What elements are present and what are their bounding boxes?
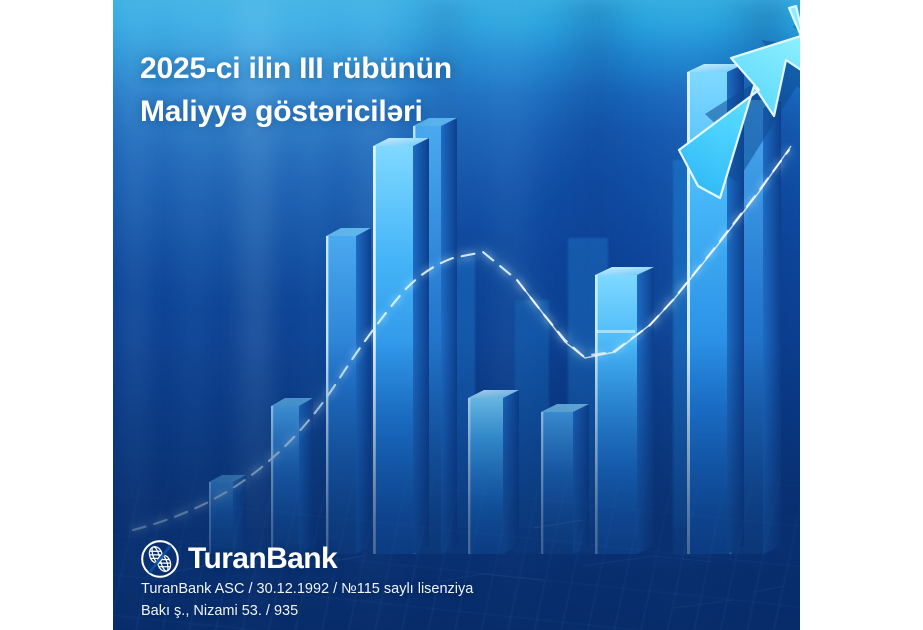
legal-line-1: TuranBank ASC / 30.12.1992 / №115 saylı …: [141, 578, 473, 600]
legal-line-2: Bakı ş., Nizami 53. / 935: [141, 600, 473, 622]
globe-icon: [141, 540, 179, 578]
legal-info: TuranBank ASC / 30.12.1992 / №115 saylı …: [141, 578, 473, 622]
page-title: 2025-ci ilin III rübünün Maliyyə göstəri…: [140, 48, 700, 133]
promotional-banner: 2025-ci ilin III rübünün Maliyyə göstəri…: [113, 0, 800, 630]
headline-line-2: Maliyyə göstəriciləri: [140, 91, 700, 134]
headline-line-1: 2025-ci ilin III rübünün: [140, 48, 700, 91]
brand-lockup: TuranBank: [141, 540, 337, 578]
page-canvas: 2025-ci ilin III rübünün Maliyyə göstəri…: [0, 0, 923, 630]
brand-name: TuranBank: [188, 544, 337, 574]
